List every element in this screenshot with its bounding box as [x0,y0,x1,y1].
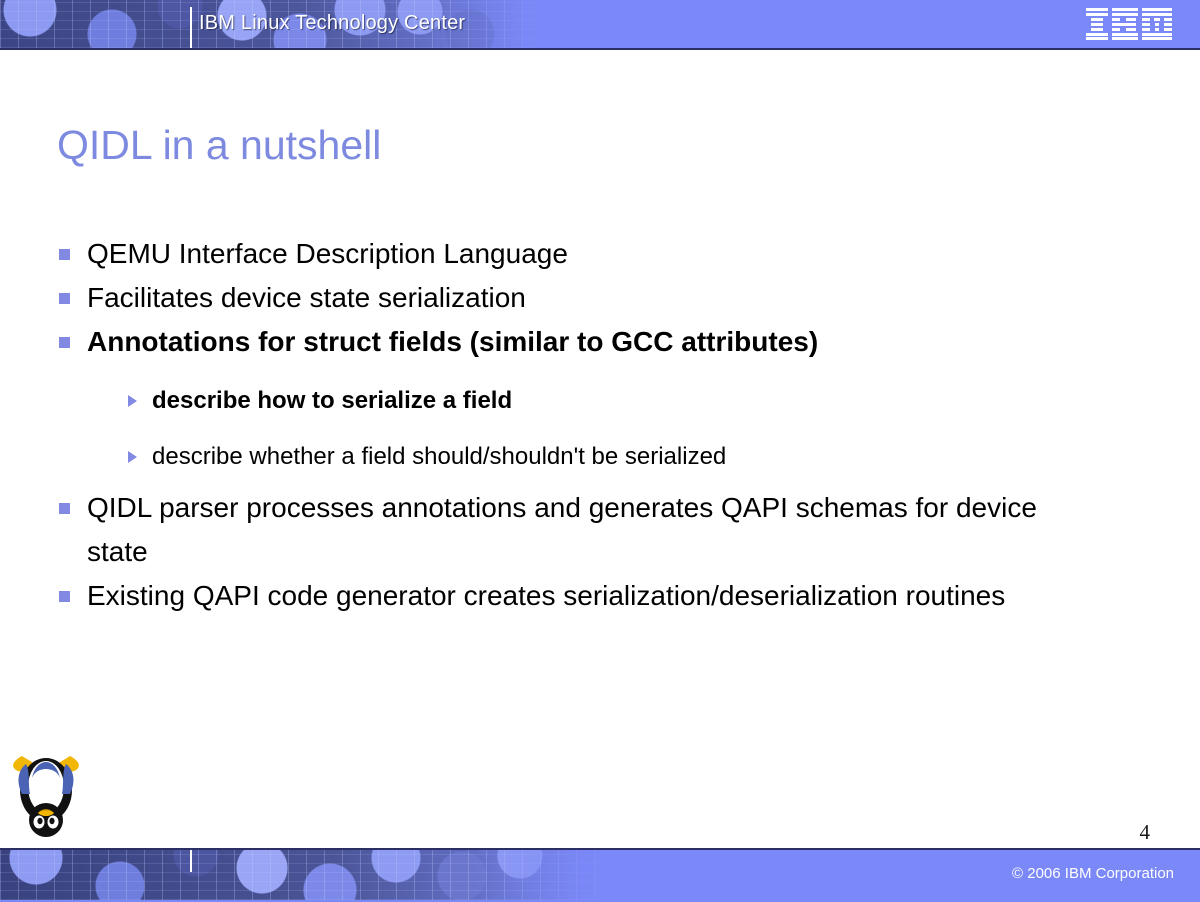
tux-penguin-icon [8,752,84,840]
triangle-bullet-icon [128,451,137,463]
list-item-label: Annotations for struct fields (similar t… [87,326,818,357]
page-number: 4 [1140,820,1151,845]
square-bullet-icon [59,293,70,304]
list-item-label: QIDL parser processes annotations and ge… [87,492,1037,567]
list-item-label: Facilitates device state serialization [87,282,526,313]
square-bullet-icon [59,503,70,514]
sub-list-item-label: describe how to serialize a field [152,387,512,414]
list-item: Facilitates device state serialization [56,276,1146,320]
list-item: Annotations for struct fields (similar t… [56,320,1146,364]
list-item: QIDL parser processes annotations and ge… [56,486,1087,574]
list-item-label: QEMU Interface Description Language [87,238,568,269]
list-item: QEMU Interface Description Language [56,232,1146,276]
slide-footer: © 2006 IBM Corporation [0,848,1200,902]
ibm-logo-icon [1086,8,1178,40]
slide-header: IBM Linux Technology Center [0,0,1200,50]
sub-list-item: describe how to serialize a field [56,382,1146,420]
sub-list-item-label: describe whether a field should/shouldn'… [152,443,726,470]
list-item-label: Existing QAPI code generator creates ser… [87,580,1005,611]
copyright-text: © 2006 IBM Corporation [1012,865,1174,882]
footer-fade-overlay [470,850,630,900]
header-title: IBM Linux Technology Center [199,12,465,35]
slide-content: QEMU Interface Description Language Faci… [56,232,1146,618]
square-bullet-icon [59,249,70,260]
footer-divider [190,850,192,872]
square-bullet-icon [59,337,70,348]
triangle-bullet-icon [128,395,137,407]
square-bullet-icon [59,591,70,602]
header-divider [190,7,192,48]
list-item: Existing QAPI code generator creates ser… [56,574,1087,618]
sub-list-item: describe whether a field should/shouldn'… [56,438,1146,476]
page-title: QIDL in a nutshell [57,122,381,169]
